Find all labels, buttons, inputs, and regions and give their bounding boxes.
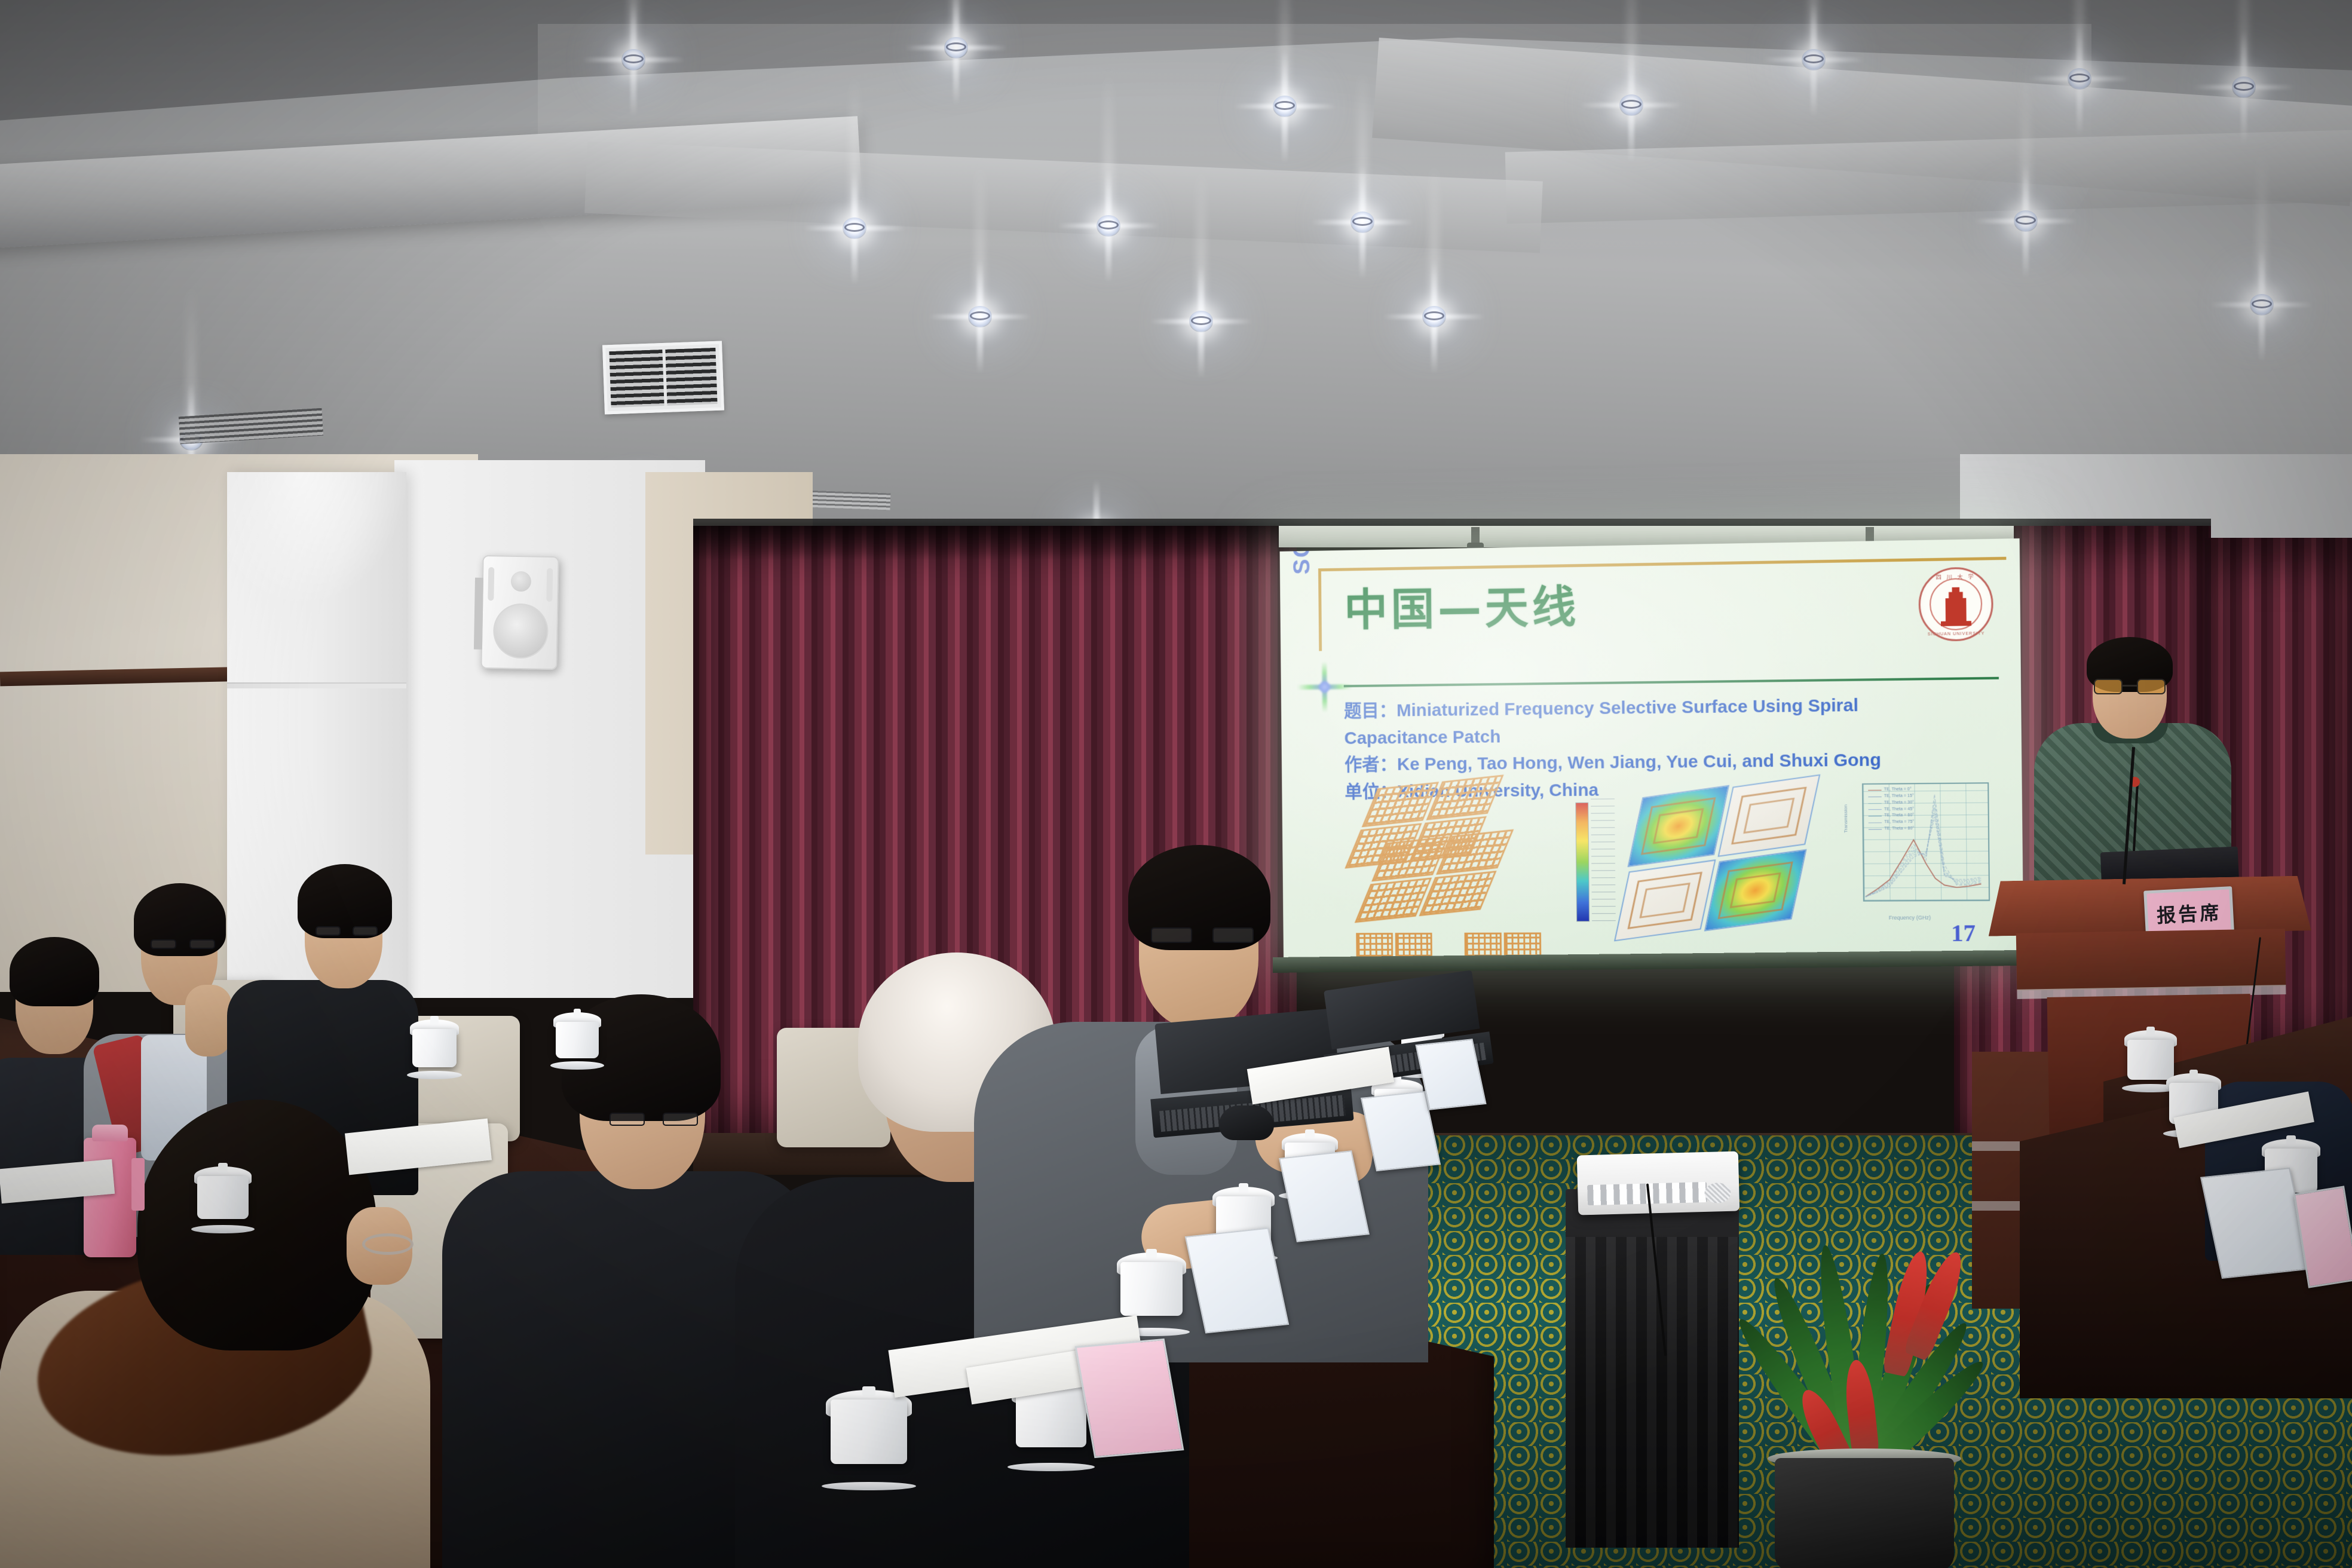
field-cell-cold (1614, 859, 1716, 941)
slide-line-title: 题目：Miniaturized Frequency Selective Surf… (1344, 691, 2003, 724)
field-cell-hot (1704, 849, 1807, 932)
curtain-pelmet (693, 526, 1297, 561)
figure-current-distribution (1609, 771, 1829, 951)
slide-page-number: 17 (1951, 918, 1976, 947)
podium-mid (2016, 929, 2286, 991)
potted-plant (1691, 1100, 2026, 1568)
slide-divider-rule (1344, 677, 1999, 687)
person-glasses-icon (1151, 927, 1254, 943)
screen-mount-bracket (1471, 527, 1480, 547)
person-hand (185, 985, 232, 1056)
field-cell-hot (1627, 785, 1729, 868)
slide-sparkle-icon (1304, 666, 1345, 708)
slide-left-rule (1318, 568, 1322, 651)
person-glasses-icon (316, 926, 378, 936)
figure-colorbar-ticks (1591, 798, 1616, 925)
slide-title: 中国—天线 (1344, 571, 1580, 638)
tea-cup (556, 1009, 599, 1066)
sichuan-university-logo-icon: 四 川 大 学 SICHUAN UNIVERSITY (1918, 566, 1993, 641)
patch-array-b (1465, 932, 1542, 958)
hvac-grille (602, 341, 724, 415)
logo-text-top: 四 川 大 学 (1920, 572, 1991, 581)
wall-speaker-icon (480, 555, 559, 670)
presenter-glasses-icon (2094, 679, 2166, 694)
speaker-grill-left (488, 567, 494, 601)
speaker-tweeter (511, 571, 532, 592)
person-glasses-icon (610, 1113, 698, 1126)
slide-label-title: 题目： (1344, 701, 1396, 721)
person-glasses-icon (362, 1233, 414, 1255)
pillar-seam (227, 682, 406, 688)
slide-top-rule (1318, 557, 2006, 571)
figure-transmission-chart: TE, Theta = 0°TE, Theta = 15°TE, Theta =… (1845, 780, 1999, 932)
logo-tower-base (1941, 621, 1971, 626)
podium-nameplate-text: 报告席 (2156, 898, 2222, 929)
field-cell-cold (1717, 774, 1820, 857)
conference-room-photo: SCU 中国—天线 四 川 大 学 SICHUAN UNIVERSITY 题目：… (0, 0, 2352, 1568)
logo-text-bottom: SICHUAN UNIVERSITY (1921, 632, 1992, 637)
speaker-grill-right (546, 568, 553, 602)
chart-legend: TE, Theta = 0°TE, Theta = 15°TE, Theta =… (1868, 786, 1940, 833)
figure-colorbar (1575, 803, 1590, 922)
ceiling (0, 0, 2352, 526)
slide-line-title-cont: Capacitance Patch (1344, 719, 2003, 751)
chart-y-axis-label: Transmission (1843, 804, 1849, 833)
speaker-woofer (493, 603, 549, 659)
pink-thermos-bottle (84, 1138, 136, 1257)
speaker-bracket (474, 578, 483, 650)
slide-value-title-cont: Capacitance Patch (1344, 727, 1500, 748)
person-hair (137, 1100, 376, 1350)
tea-cup (412, 1016, 457, 1076)
slide-label-authors: 作者： (1345, 755, 1397, 774)
plant-pot (1775, 1458, 1954, 1568)
person-glasses-icon (151, 939, 215, 949)
slide-value-authors: Ke Peng, Tao Hong, Wen Jiang, Yue Cui, a… (1397, 750, 1881, 774)
chart-x-axis-label: Frequency (GHz) (1889, 914, 1931, 920)
tea-cup (831, 1386, 907, 1487)
slide-line-authors: 作者：Ke Peng, Tao Hong, Wen Jiang, Yue Cui… (1345, 746, 2004, 778)
computer-mouse[interactable] (1219, 1105, 1274, 1140)
slide-value-title: Miniaturized Frequency Selective Surface… (1396, 696, 1858, 721)
tea-cup (197, 1163, 249, 1230)
pillar-light-glow (227, 472, 406, 604)
